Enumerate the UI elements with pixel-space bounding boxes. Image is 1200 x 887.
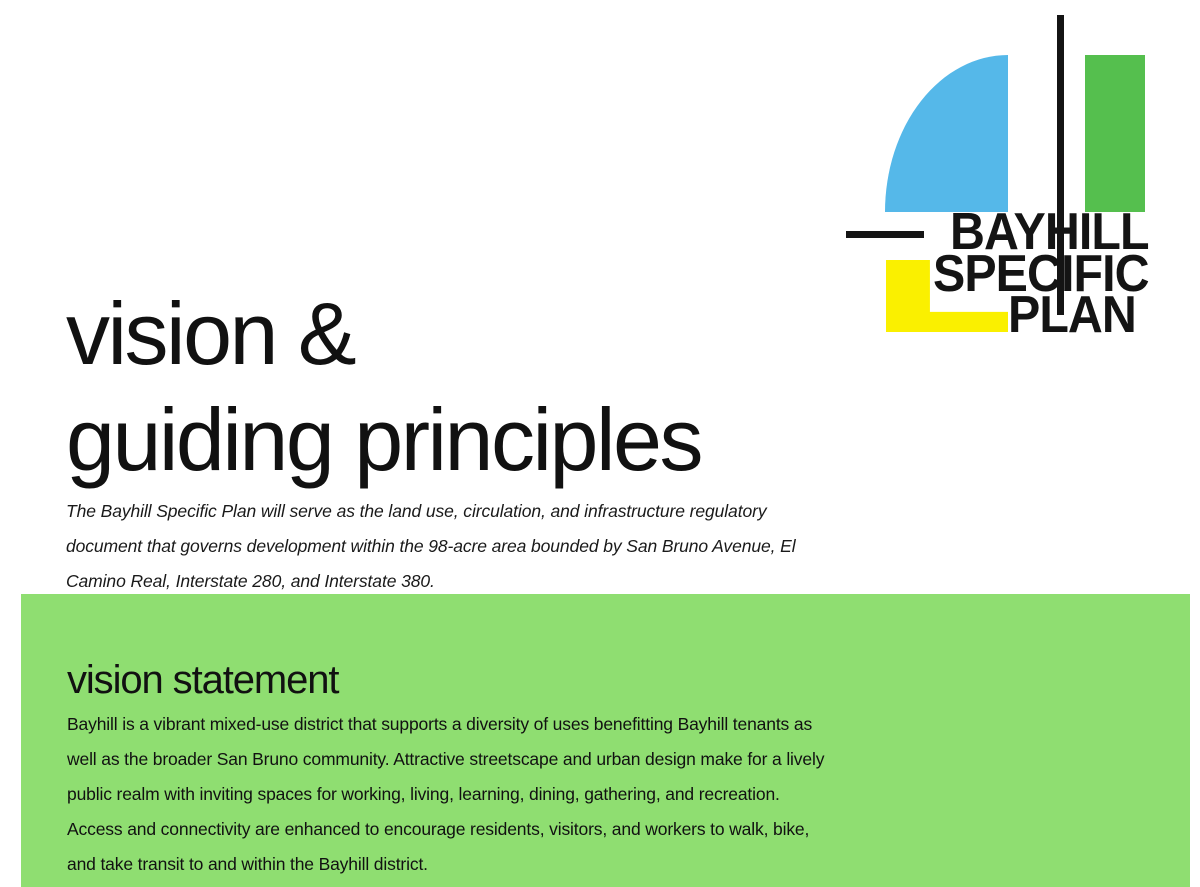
intro-paragraph: The Bayhill Specific Plan will serve as … (66, 494, 828, 599)
bayhill-specific-plan-logo: BAYHILL SPECIFIC PLAN (838, 12, 1188, 347)
logo-wordmark-line-plan: PLAN (1008, 295, 1177, 337)
vision-statement-body: Bayhill is a vibrant mixed-use district … (67, 707, 827, 882)
page-title-line-2: guiding principles (66, 387, 856, 493)
document-page: BAYHILL SPECIFIC PLAN vision & guiding p… (0, 0, 1200, 887)
logo-black-horizontal-dash-shape (846, 231, 924, 238)
logo-wordmark: BAYHILL SPECIFIC PLAN (950, 212, 1190, 337)
vision-statement-banner: vision statement Bayhill is a vibrant mi… (21, 594, 1190, 887)
vision-statement-heading: vision statement (67, 660, 338, 700)
page-title: vision & guiding principles (66, 281, 856, 492)
logo-blue-quarter-circle-shape (885, 55, 1008, 212)
page-title-line-1: vision & (66, 281, 856, 387)
logo-green-rectangle-shape (1085, 55, 1145, 212)
